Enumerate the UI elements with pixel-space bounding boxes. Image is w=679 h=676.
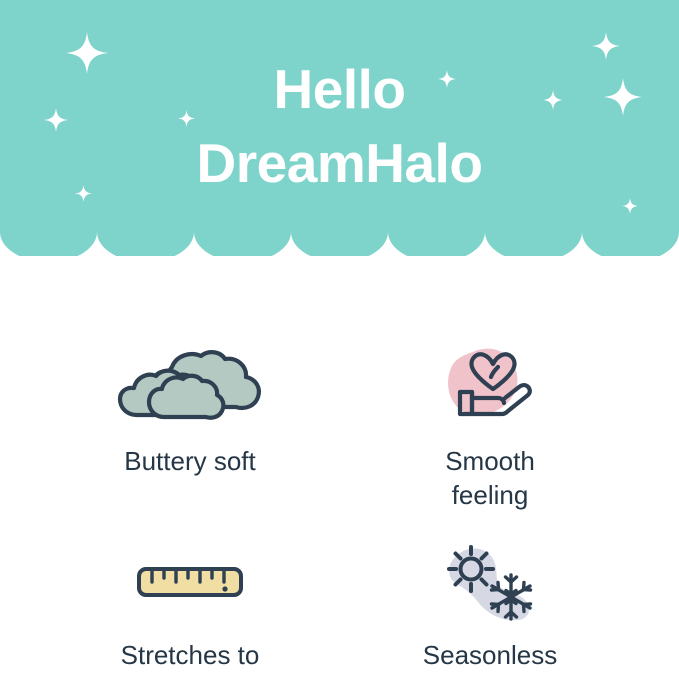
- page-title: Hello DreamHalo: [0, 52, 679, 200]
- ruler-icon: [40, 538, 340, 624]
- scalloped-edge: [0, 222, 679, 256]
- feature-label-buttery-soft: Buttery soft: [40, 444, 340, 478]
- hero-banner: Hello DreamHalo: [0, 0, 679, 256]
- product-feature-infographic: Hello DreamHalo Buttery soft: [0, 0, 679, 676]
- feature-stretches-to-fit-longer: Stretches to fit longer: [40, 538, 340, 676]
- cloud-icon: [40, 344, 340, 430]
- feature-label-seasonless: Seasonless: [340, 638, 640, 672]
- feature-smooth-feeling: Smooth feeling: [340, 344, 640, 512]
- feature-buttery-soft: Buttery soft: [40, 344, 340, 478]
- feature-label-stretches-to-fit-longer: Stretches to fit longer: [40, 638, 340, 676]
- feature-grid: Buttery soft Smooth feeling: [0, 256, 679, 676]
- feature-seasonless: Seasonless: [340, 538, 640, 672]
- feature-label-smooth-feeling: Smooth feeling: [340, 444, 640, 512]
- sun-and-snowflake-icon: [340, 538, 640, 624]
- heart-in-hand-icon: [340, 344, 640, 430]
